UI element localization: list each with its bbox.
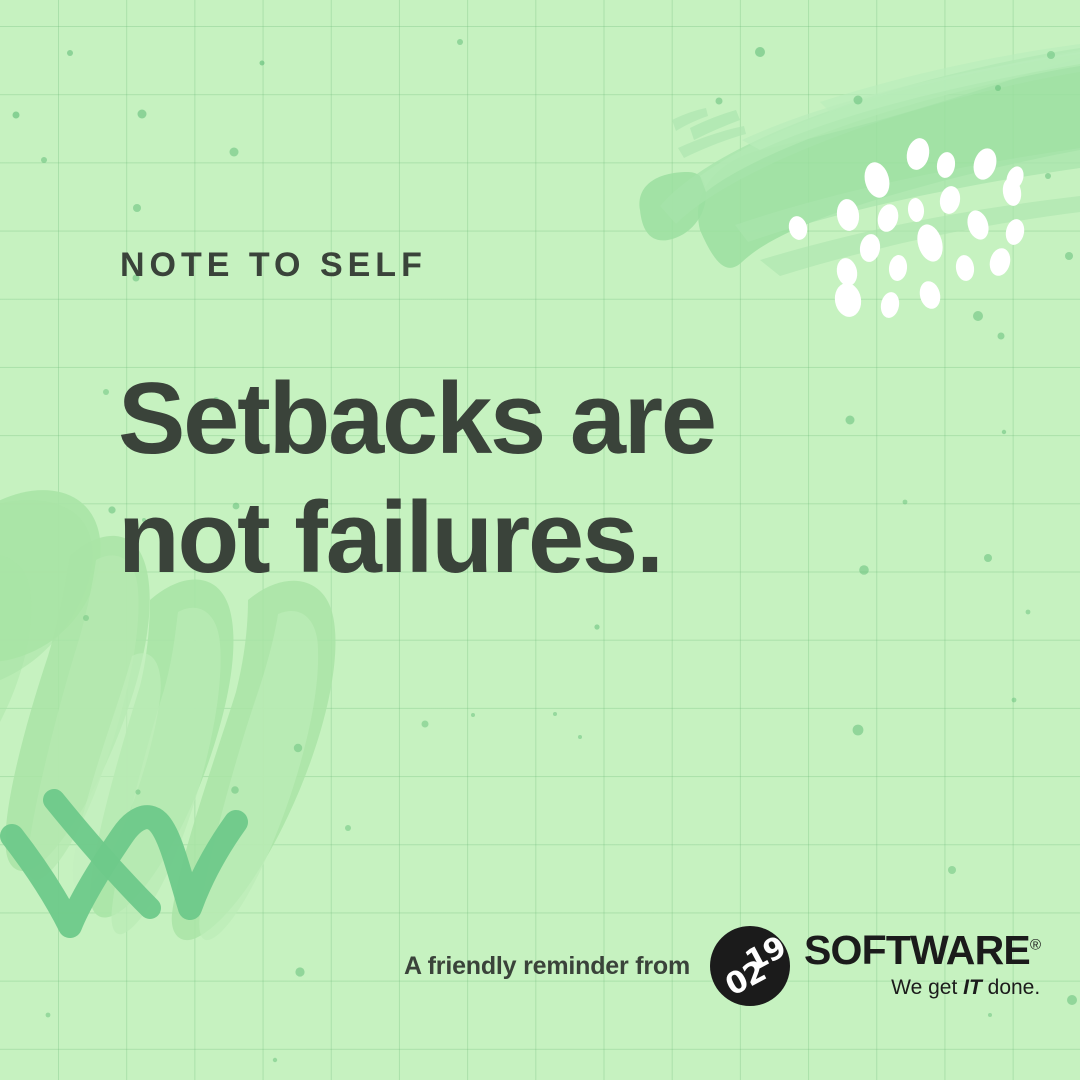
poster-canvas: NOTE TO SELF Setbacks are not failures. … — [0, 0, 1080, 1080]
headline-text: Setbacks are not failures. — [118, 360, 715, 598]
brand-name: SOFTWARE® — [804, 931, 1040, 970]
logo-1902-icon: 19 02 — [710, 926, 790, 1006]
eyebrow-label: NOTE TO SELF — [120, 248, 427, 282]
tagline-emphasis: IT — [963, 976, 982, 999]
brand-lockup: 19 02 SOFTWARE® We get IT done. — [710, 926, 1040, 1006]
poster-content: NOTE TO SELF Setbacks are not failures. … — [0, 0, 1080, 1080]
reminder-text: A friendly reminder from — [404, 952, 690, 981]
registered-mark-icon: ® — [1030, 937, 1040, 954]
footer-lockup: A friendly reminder from 19 02 SOFTWARE®… — [404, 900, 1004, 996]
tagline-before: We get — [891, 976, 963, 999]
brand-words: SOFTWARE® We get IT done. — [804, 931, 1040, 1000]
brand-tagline: We get IT done. — [891, 975, 1040, 1000]
tagline-after: done. — [982, 976, 1040, 999]
brand-name-text: SOFTWARE — [804, 927, 1030, 973]
